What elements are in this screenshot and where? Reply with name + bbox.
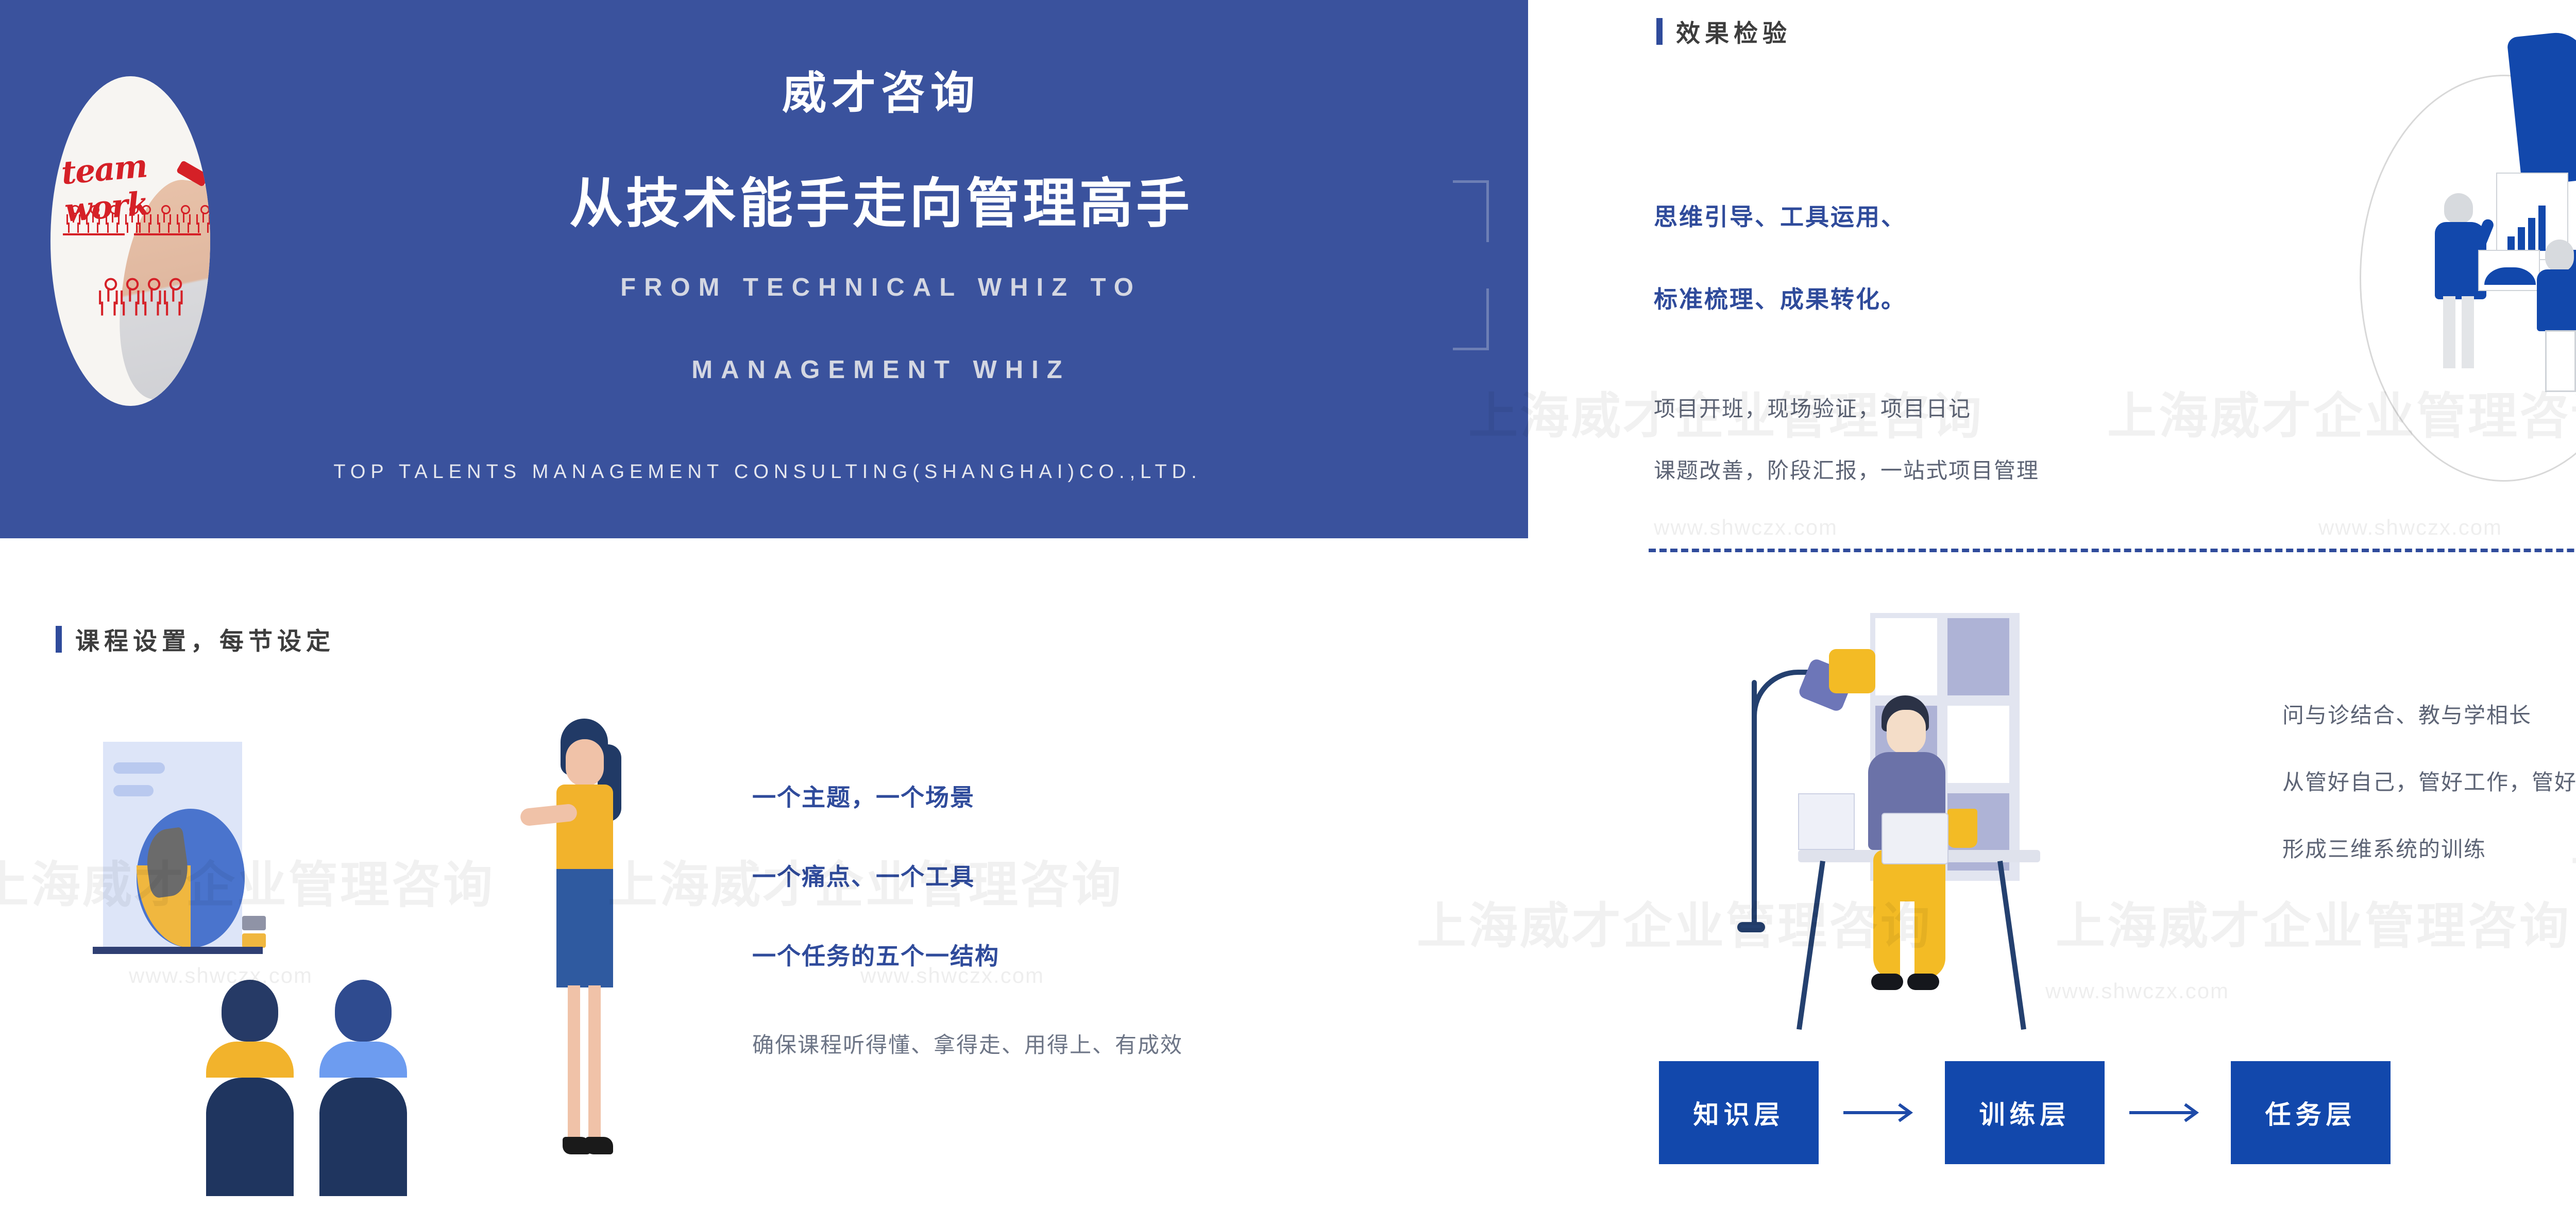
thought-bubble-icon: [1829, 649, 1875, 693]
watermark-url: www.shwczx.com: [2318, 515, 2502, 540]
pie-graphic: [137, 809, 245, 948]
left-bullet-3: 一个任务的五个一结构: [752, 938, 999, 972]
pie-chart-illustration: [88, 742, 376, 984]
mid-divider: [1649, 549, 2576, 552]
chart-chip-gray: [242, 916, 266, 930]
stick-figure-row-2: [136, 205, 210, 230]
mid-right-line-2: 从管好自己，管好工作，管好下属为主线: [2282, 765, 2576, 796]
mid-right-line-1: 问与诊结合、教与学相长: [2282, 698, 2532, 729]
poster-page: team work 威才咨询 从技术能手走向管理高手 FROM TECHNICA…: [0, 0, 2576, 1227]
hero-english-line-1: FROM TECHNICAL WHIZ TO: [289, 273, 1473, 302]
left-bullet-2: 一个痛点、一个工具: [752, 858, 999, 892]
middle-panel: 效果检验 思维引导、工具运用、 标准梳理、成果转化。 项目开班，现场验证，项目日…: [1571, 0, 2576, 1227]
blue-arc-shape: [2504, 23, 2576, 193]
flow-arrow-2-icon: [2105, 1101, 2231, 1124]
stick-figure-row-3: [100, 282, 182, 307]
left-bullet-1: 一个主题，一个场景: [752, 779, 999, 813]
chart-base-bar: [93, 947, 263, 954]
hero-banner: team work 威才咨询 从技术能手走向管理高手 FROM TECHNICA…: [0, 0, 1528, 538]
presenter-illustration: [531, 719, 644, 1167]
stick-figure-row-1: [65, 205, 141, 230]
mid-bold-line-1: 思维引导、工具运用、: [1654, 198, 1906, 232]
left-heading-text: 课程设置，每节设定: [75, 621, 335, 657]
desk-leg-left: [1797, 861, 1825, 1030]
desk-worker-illustration: [1741, 592, 2174, 1020]
underline-2: [134, 233, 201, 235]
left-panel: team work 威才咨询 从技术能手走向管理高手 FROM TECHNICA…: [0, 0, 1571, 1227]
audience-person-1: [206, 980, 294, 1196]
heading-accent-bar: [1656, 18, 1663, 45]
hero-title: 威才咨询: [289, 57, 1473, 121]
watermark-url: www.shwczx.com: [1654, 515, 1838, 540]
paper-stack: [1798, 793, 1855, 850]
underline-1: [63, 233, 125, 235]
people-chart-group: [2401, 173, 2576, 410]
bracket-bottom-right: [1453, 288, 1489, 350]
heading-accent-bar: [56, 626, 62, 653]
desk-leg-right: [1997, 861, 2026, 1030]
hero-company-footer: TOP TALENTS MANAGEMENT CONSULTING(SHANGH…: [31, 461, 1504, 483]
chart-line-2: [113, 785, 154, 796]
flow-step-task[interactable]: 任务层: [2231, 1061, 2391, 1164]
hero-english-line-2: MANAGEMENT WHIZ: [289, 355, 1473, 384]
teamwork-photo: team work: [50, 76, 210, 406]
chart-chip-yellow: [242, 933, 266, 948]
flow-arrow-1-icon: [1819, 1101, 1945, 1124]
flow-step-knowledge[interactable]: 知识层: [1659, 1061, 1819, 1164]
mid-section-heading: 效果检验: [1656, 13, 1791, 49]
mid-plain-line-2: 课题改善，阶段汇报，一站式项目管理: [1654, 453, 2039, 485]
mid-right-line-3: 形成三维系统的训练: [2282, 832, 2486, 863]
ring-presentation-illustration: [2324, 23, 2576, 471]
mid-bold-line-2: 标准梳理、成果转化。: [1654, 281, 1906, 315]
hero-subtitle: 从技术能手走向管理高手: [289, 160, 1473, 237]
seated-worker: [1860, 695, 1968, 1015]
audience-person-2: [319, 980, 407, 1196]
left-bullet-list: 一个主题，一个场景 一个痛点、一个工具 一个任务的五个一结构: [752, 779, 999, 1017]
mid-plain-line-1: 项目开班，现场验证，项目日记: [1654, 391, 1971, 423]
left-note-text: 确保课程听得懂、拿得走、用得上、有成效: [752, 1028, 1183, 1059]
mid-heading-text: 效果检验: [1676, 13, 1791, 49]
seated-woman: [2530, 240, 2576, 394]
lamp-pole: [1752, 680, 1757, 927]
flow-step-training[interactable]: 训练层: [1945, 1061, 2105, 1164]
flow-diagram: 知识层 训练层 任务层: [1659, 1061, 2391, 1164]
bracket-top-right: [1453, 180, 1489, 242]
chart-line-1: [113, 762, 165, 774]
lamp-base: [1737, 922, 1765, 932]
left-section-heading: 课程设置，每节设定: [56, 621, 335, 657]
